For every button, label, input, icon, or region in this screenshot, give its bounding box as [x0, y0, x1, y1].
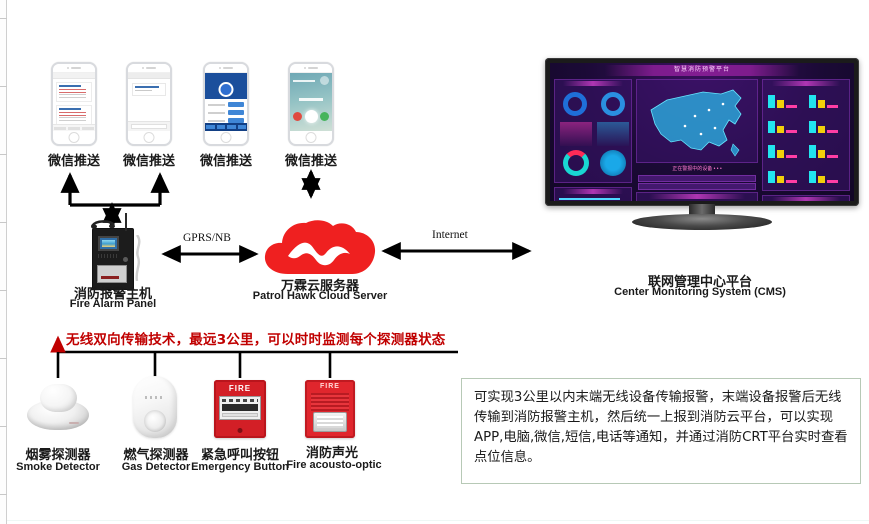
ticker-row-2	[638, 183, 756, 190]
phone-screen	[53, 73, 95, 131]
dashboard-panel-region-chart	[636, 192, 758, 201]
bottom-divider	[7, 520, 869, 521]
dashboard-panel-records	[554, 187, 632, 201]
phone-mockup-app-dashboard[interactable]	[203, 62, 249, 146]
monitor-base	[632, 214, 772, 230]
fire-alarm-panel-device[interactable]	[92, 228, 134, 290]
phone-notch	[290, 64, 332, 73]
antenna-icon	[125, 213, 127, 231]
dashboard-panel-unit-stats	[762, 79, 850, 191]
phone-mockup-wechat-chat[interactable]	[126, 62, 172, 146]
phone-screen	[205, 73, 247, 131]
fire-text: FIRE	[305, 383, 355, 390]
fire-text: FIRE	[214, 384, 266, 393]
dashboard-alert-text: 正在警报中的设备 • • •	[636, 165, 758, 174]
gas-detector-icon[interactable]	[133, 376, 177, 438]
dashboard-title: 智慧消防预警平台	[605, 65, 800, 76]
phone-screen	[128, 73, 170, 131]
phone-mockup-wechat-article-list[interactable]	[51, 62, 97, 146]
description-box: 可实现3公里以内末端无线设备传输报警，末端设备报警后无线传输到消防报警主机，然后…	[461, 378, 861, 484]
detector-label-en-4: Fire acousto-optic	[278, 459, 390, 471]
phone-screen	[290, 73, 332, 131]
ticker-row-1	[638, 175, 756, 182]
dashboard-panel-map	[636, 79, 758, 163]
cms-label-en: Center Monitoring System (CMS)	[610, 286, 790, 298]
phone-notch	[53, 64, 95, 73]
handset-icon	[91, 219, 115, 229]
cloud-server-label-en: Patrol Hawk Cloud Server	[242, 290, 398, 302]
smoke-detector-icon[interactable]	[27, 384, 89, 432]
power-cord-icon	[133, 235, 144, 281]
wireless-banner-text: 无线双向传输技术，最远3公里，可以时时监测每个探测器状态	[66, 328, 446, 348]
detector-label-en-1: Smoke Detector	[9, 461, 107, 473]
dashboard-panel-alarm-list	[762, 195, 850, 201]
phone-label-3: 微信推送	[181, 150, 271, 169]
dashboard-panel-stats	[554, 79, 632, 183]
panel-keypad	[98, 254, 119, 258]
phone-home-button	[306, 132, 317, 143]
phone-home-button	[69, 132, 80, 143]
phone-notch	[205, 64, 247, 73]
link-label-gprs-nb: GPRS/NB	[183, 232, 231, 244]
phone-mockup-incoming-call[interactable]	[288, 62, 334, 146]
fire-acousto-optic-icon[interactable]: FIRE	[305, 380, 355, 438]
fire-alarm-panel-label-en: Fire Alarm Panel	[58, 298, 168, 310]
monitor-screen: 智慧消防预警平台	[550, 63, 854, 201]
panel-display	[98, 236, 119, 251]
panel-status-led	[123, 257, 128, 262]
phone-label-4: 微信推送	[266, 150, 356, 169]
monitor-bezel: 智慧消防预警平台	[545, 58, 859, 206]
phone-home-button	[144, 132, 155, 143]
description-text: 可实现3公里以内末端无线设备传输报警，末端设备报警后无线传输到消防报警主机，然后…	[474, 388, 849, 468]
link-label-internet: Internet	[432, 229, 468, 241]
diagram-canvas: 微信推送 微信推送 微信推送	[0, 0, 869, 524]
phone-notch	[128, 64, 170, 73]
cloud-server-icon[interactable]	[262, 218, 378, 276]
panel-door	[97, 265, 127, 283]
emergency-button-icon[interactable]: FIRE	[214, 380, 266, 438]
editor-gutter[interactable]	[0, 0, 7, 524]
dashboard-view: 智慧消防预警平台	[550, 63, 854, 201]
cms-monitor[interactable]: 智慧消防预警平台	[545, 58, 859, 228]
phone-home-button	[221, 132, 232, 143]
